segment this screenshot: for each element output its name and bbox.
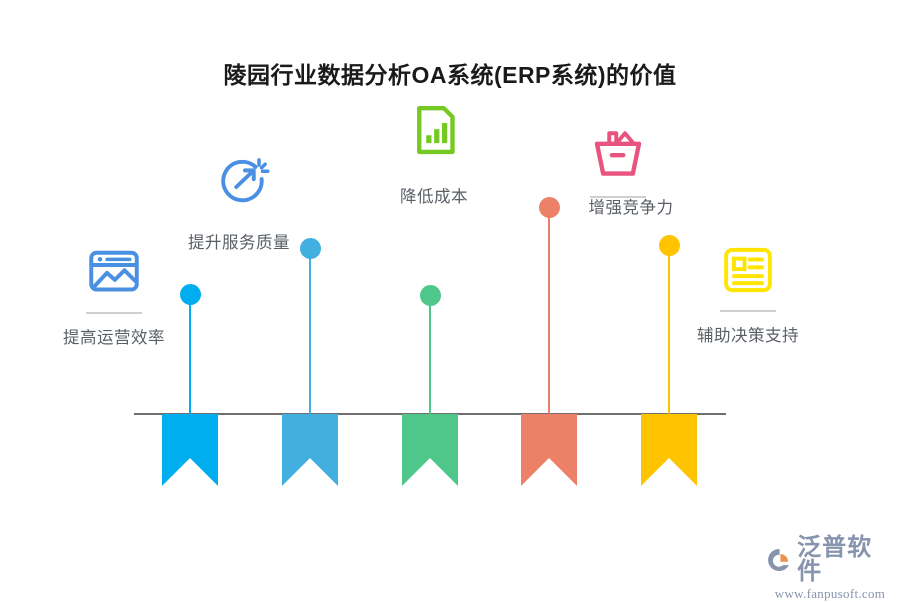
stem-1: [189, 292, 192, 414]
stem-5: [668, 243, 671, 414]
stem-3: [429, 293, 432, 414]
pin-dot-1[interactable]: [180, 284, 201, 305]
icon-block-service-quality: [185, 152, 305, 208]
page-title: 陵园行业数据分析OA系统(ERP系统)的价值: [0, 56, 900, 90]
image-chart-icon: [86, 244, 142, 300]
article-list-icon: [720, 242, 776, 298]
flag-marker-2[interactable]: [282, 414, 338, 486]
boost-arrow-circle-icon: [217, 152, 273, 208]
document-bar-chart-icon: [407, 102, 463, 158]
icon-block-cost-reduction: [375, 102, 495, 158]
icon-caption-5: 辅助决策支持: [697, 322, 799, 346]
flag-marker-1[interactable]: [162, 414, 218, 486]
node-label-cost-reduction: 降低成本: [400, 183, 468, 207]
logo-row: 泛普软件: [766, 536, 894, 584]
icon-block-decision-support: 辅助决策支持: [688, 242, 808, 346]
pin-dot-3[interactable]: [420, 285, 441, 306]
icon-caption-1: 提高运营效率: [63, 324, 165, 348]
node-label-competitiveness: 增强竞争力: [589, 194, 674, 218]
fanpu-logo-mark: [766, 546, 793, 574]
pin-dot-2[interactable]: [300, 238, 321, 259]
basket-icon: [590, 128, 646, 184]
logo-brand-text: 泛普软件: [797, 536, 894, 584]
icon-block-operating-efficiency: 提高运营效率: [54, 244, 174, 348]
pin-dot-5[interactable]: [659, 235, 680, 256]
icon-divider-1: [86, 312, 142, 314]
flag-marker-4[interactable]: [521, 414, 577, 486]
node-label-service-quality: 提升服务质量: [188, 229, 290, 253]
pin-dot-4[interactable]: [539, 197, 560, 218]
icon-block-competitiveness: [558, 128, 678, 198]
stem-4: [548, 205, 551, 414]
infographic-canvas: 陵园行业数据分析OA系统(ERP系统)的价值: [0, 0, 900, 600]
flag-marker-5[interactable]: [641, 414, 697, 486]
icon-divider-5: [720, 310, 776, 312]
brand-logo[interactable]: 泛普软件 www.fanpusoft.com: [766, 536, 894, 586]
flag-marker-3[interactable]: [402, 414, 458, 486]
stem-2: [309, 246, 312, 414]
